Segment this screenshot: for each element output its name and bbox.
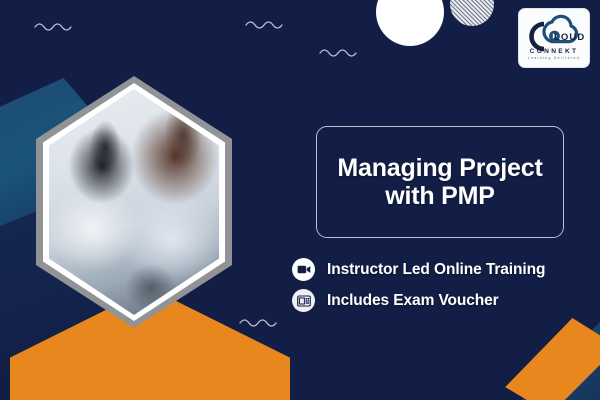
title-card: Managing Project with PMP [316, 126, 564, 238]
squiggle-icon [238, 316, 280, 328]
page-title: Managing Project with PMP [329, 154, 550, 210]
squiggle-icon [33, 20, 75, 32]
squiggle-icon [318, 46, 360, 58]
feature-label: Includes Exam Voucher [327, 292, 499, 310]
svg-text:LOUD: LOUD [554, 32, 585, 43]
squiggle-icon [244, 18, 286, 30]
white-circle-icon [376, 0, 444, 46]
logo-mark-icon: LOUD CONNEKT Learning Delivered [522, 13, 586, 63]
exam-certificate-icon [292, 289, 315, 312]
feature-list: Instructor Led Online Training Includes … [292, 258, 592, 320]
svg-text:Learning Delivered: Learning Delivered [528, 56, 580, 60]
cloud-connekt-logo[interactable]: LOUD CONNEKT Learning Delivered [518, 8, 590, 68]
feature-label: Instructor Led Online Training [327, 261, 545, 279]
course-promo-banner: LOUD CONNEKT Learning Delivered Managing… [0, 0, 600, 400]
video-camera-icon [292, 258, 315, 281]
list-item: Includes Exam Voucher [292, 289, 592, 312]
hexagon-photo [36, 76, 232, 328]
list-item: Instructor Led Online Training [292, 258, 592, 281]
svg-text:CONNEKT: CONNEKT [530, 48, 579, 55]
striped-circle-icon [450, 0, 494, 26]
